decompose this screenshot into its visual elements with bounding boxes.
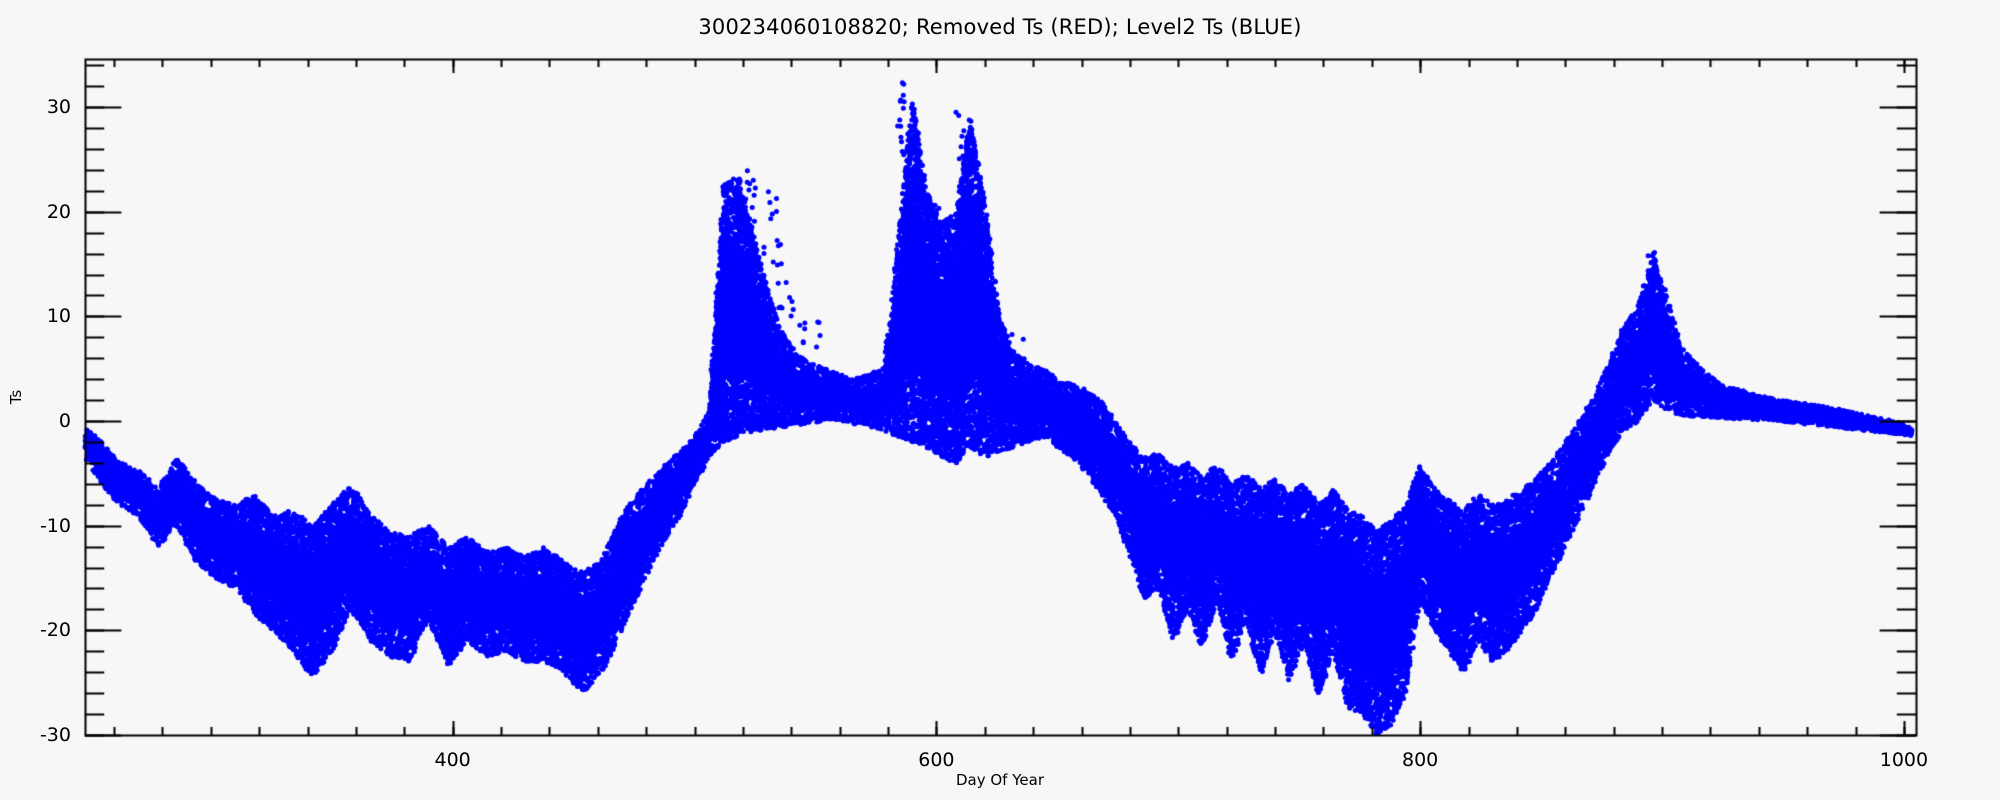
y-tick-label: 0 [0, 410, 71, 432]
plot-figure: 300234060108820; Removed Ts (RED); Level… [0, 0, 2000, 800]
page-title: 300234060108820; Removed Ts (RED); Level… [0, 15, 2000, 39]
x-axis-title: Day Of Year [0, 771, 2000, 789]
scatter-plot-canvas [0, 0, 2000, 800]
y-tick-label: 10 [0, 305, 71, 327]
x-tick-label: 400 [435, 749, 471, 771]
y-tick-label: -20 [0, 619, 71, 641]
y-tick-label: 20 [0, 201, 71, 223]
y-tick-label: -10 [0, 515, 71, 537]
x-tick-label: 600 [918, 749, 954, 771]
x-tick-label: 800 [1402, 749, 1438, 771]
y-tick-label: -30 [0, 724, 71, 746]
y-tick-label: 30 [0, 96, 71, 118]
x-tick-label: 1000 [1880, 749, 1928, 771]
